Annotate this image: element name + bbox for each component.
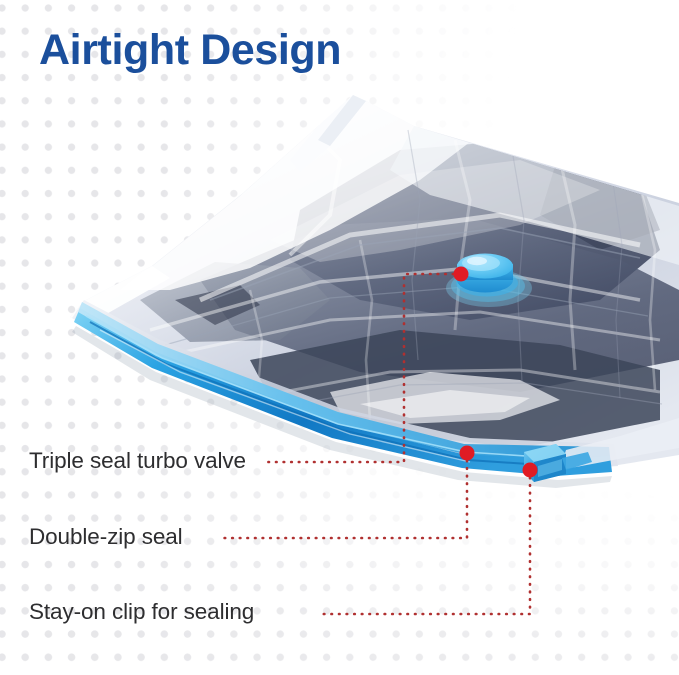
product-feature-graphic: Airtight Design Triple seal turbo valve … <box>0 0 679 675</box>
dot-pattern-background-bottom <box>0 0 679 675</box>
callout-label-double-zip-seal: Double-zip seal <box>29 524 183 550</box>
callout-label-stay-on-clip: Stay-on clip for sealing <box>29 599 254 625</box>
page-title: Airtight Design <box>39 28 341 73</box>
callout-label-triple-seal-turbo-valve: Triple seal turbo valve <box>29 448 246 474</box>
